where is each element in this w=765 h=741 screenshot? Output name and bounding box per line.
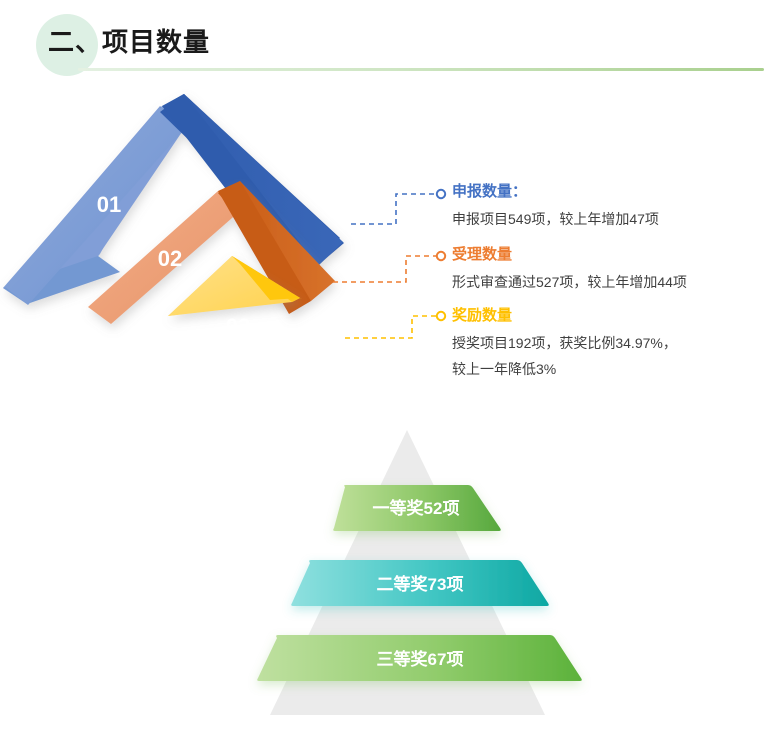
- legend-item-awarded: 奖励数量 授奖项目192项，获奖比例34.97%， 较上一年降低3%: [452, 306, 762, 382]
- page-header: 二、项目数量: [0, 0, 765, 86]
- award-pyramid-chart: 一等奖52项 二等奖73项 三等奖67项: [0, 410, 765, 741]
- page-title: 二、项目数量: [48, 25, 210, 59]
- header-divider-line: [78, 68, 764, 71]
- legend-title-accepted: 受理数量: [452, 245, 762, 265]
- legend-title-awarded: 奖励数量: [452, 306, 762, 326]
- legend-body-application: 申报项目549项，较上年增加47项: [452, 206, 762, 232]
- legend-item-accepted: 受理数量 形式审查通过527项，较上年增加44项: [452, 245, 762, 295]
- pyramid-band-label-third: 三等奖67项: [377, 649, 464, 669]
- connector-marker-03: [437, 312, 445, 320]
- connector-marker-02: [437, 252, 445, 260]
- chevron-label-03: 03: [226, 314, 250, 339]
- connector-line-02: [333, 256, 436, 282]
- pyramid-band-label-second: 二等奖73项: [377, 574, 464, 594]
- legend-body-line: 形式审查通过527项，较上年增加44项: [452, 269, 762, 295]
- legend-title-application: 申报数量：: [452, 182, 762, 202]
- chevron-label-02: 02: [158, 246, 182, 271]
- connector-line-03: [345, 316, 436, 338]
- legend-body-line: 申报项目549项，较上年增加47项: [452, 206, 762, 232]
- chevron-label-01: 01: [97, 192, 121, 217]
- pyramid-band-label-first: 一等奖52项: [373, 498, 460, 518]
- legend-item-application: 申报数量： 申报项目549项，较上年增加47项: [452, 182, 762, 232]
- legend-body-line-2: 较上一年降低3%: [452, 356, 762, 382]
- legend-body-line: 授奖项目192项，获奖比例34.97%，: [452, 330, 762, 356]
- legend-body-awarded: 授奖项目192项，获奖比例34.97%， 较上一年降低3%: [452, 330, 762, 382]
- connector-marker-01: [437, 190, 445, 198]
- legend-body-accepted: 形式审查通过527项，较上年增加44项: [452, 269, 762, 295]
- connector-line-01: [351, 194, 436, 224]
